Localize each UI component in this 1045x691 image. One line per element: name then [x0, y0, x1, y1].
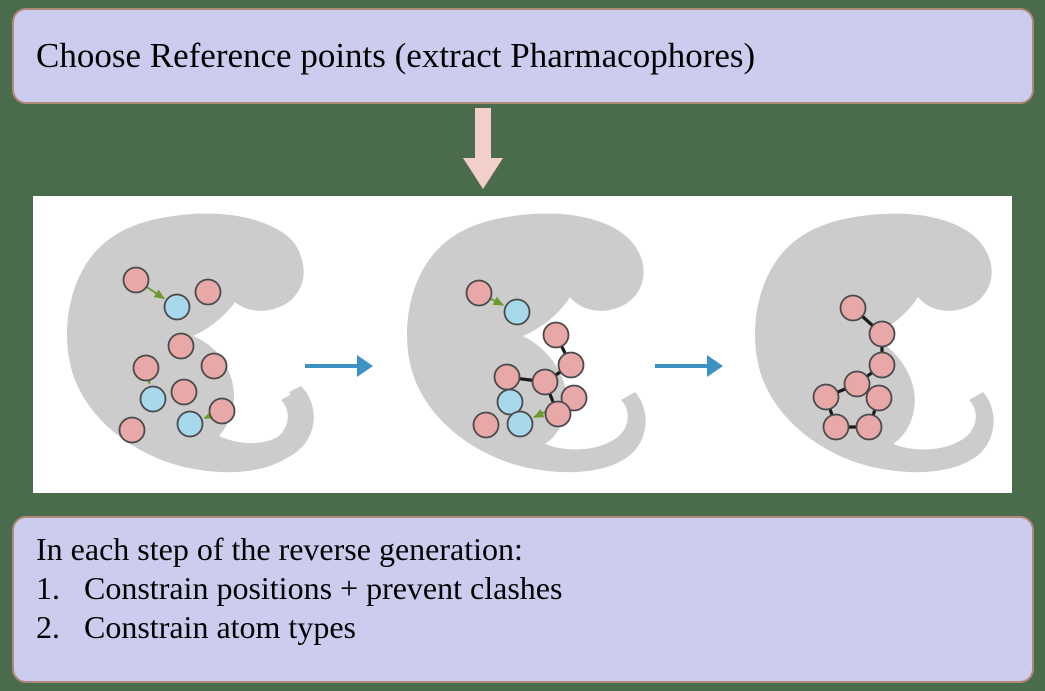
atom-node-blue — [178, 412, 203, 437]
atom-node-blue — [508, 412, 533, 437]
atom-node-pink — [134, 356, 159, 381]
atom-node-pink — [814, 385, 839, 410]
down-arrow-icon — [462, 108, 504, 190]
atom-node-pink — [202, 354, 227, 379]
atom-node-pink — [841, 296, 866, 321]
constraint-item-number: 2. — [36, 608, 84, 647]
atom-node-pink — [124, 268, 149, 293]
atom-node-pink — [474, 413, 499, 438]
atom-node-blue — [141, 387, 166, 412]
constraint-item-text: Constrain positions + prevent clashes — [84, 569, 562, 608]
figure-svg — [33, 196, 1012, 493]
atom-node-pink — [533, 370, 558, 395]
constraint-item-text: Constrain atom types — [84, 608, 356, 647]
constraint-item: 2.Constrain atom types — [36, 608, 1032, 647]
bottom-intro-text: In each step of the reverse generation: — [36, 530, 1032, 569]
atom-node-pink — [169, 334, 194, 359]
atom-node-pink — [845, 372, 870, 397]
atom-node-pink — [495, 365, 520, 390]
constraints-list: 1.Constrain positions + prevent clashes2… — [36, 569, 1032, 647]
atom-node-pink — [870, 322, 895, 347]
constraint-item: 1.Constrain positions + prevent clashes — [36, 569, 1032, 608]
atom-node-blue — [165, 295, 190, 320]
atom-node-pink — [196, 280, 221, 305]
down-arrow-shape — [463, 108, 503, 189]
atom-node-pink — [870, 353, 895, 378]
atom-node-pink — [467, 281, 492, 306]
step-arrow-2-head — [707, 355, 723, 377]
step-arrow-1-head — [357, 355, 373, 377]
atom-node-pink — [857, 415, 882, 440]
atom-node-pink — [867, 386, 892, 411]
atom-node-pink — [546, 402, 571, 427]
top-banner-box: Choose Reference points (extract Pharmac… — [12, 8, 1034, 104]
atom-node-pink — [559, 353, 584, 378]
atom-node-pink — [172, 380, 197, 405]
atom-node-pink — [544, 323, 569, 348]
bottom-box: In each step of the reverse generation: … — [12, 516, 1034, 683]
atom-node-pink — [210, 399, 235, 424]
atom-node-pink — [120, 418, 145, 443]
atom-node-pink — [824, 415, 849, 440]
constraint-item-number: 1. — [36, 569, 84, 608]
top-banner-title: Choose Reference points (extract Pharmac… — [14, 37, 755, 76]
atom-node-blue — [505, 300, 530, 325]
slide-stage: Choose Reference points (extract Pharmac… — [0, 0, 1045, 691]
figure-panel — [33, 196, 1012, 493]
